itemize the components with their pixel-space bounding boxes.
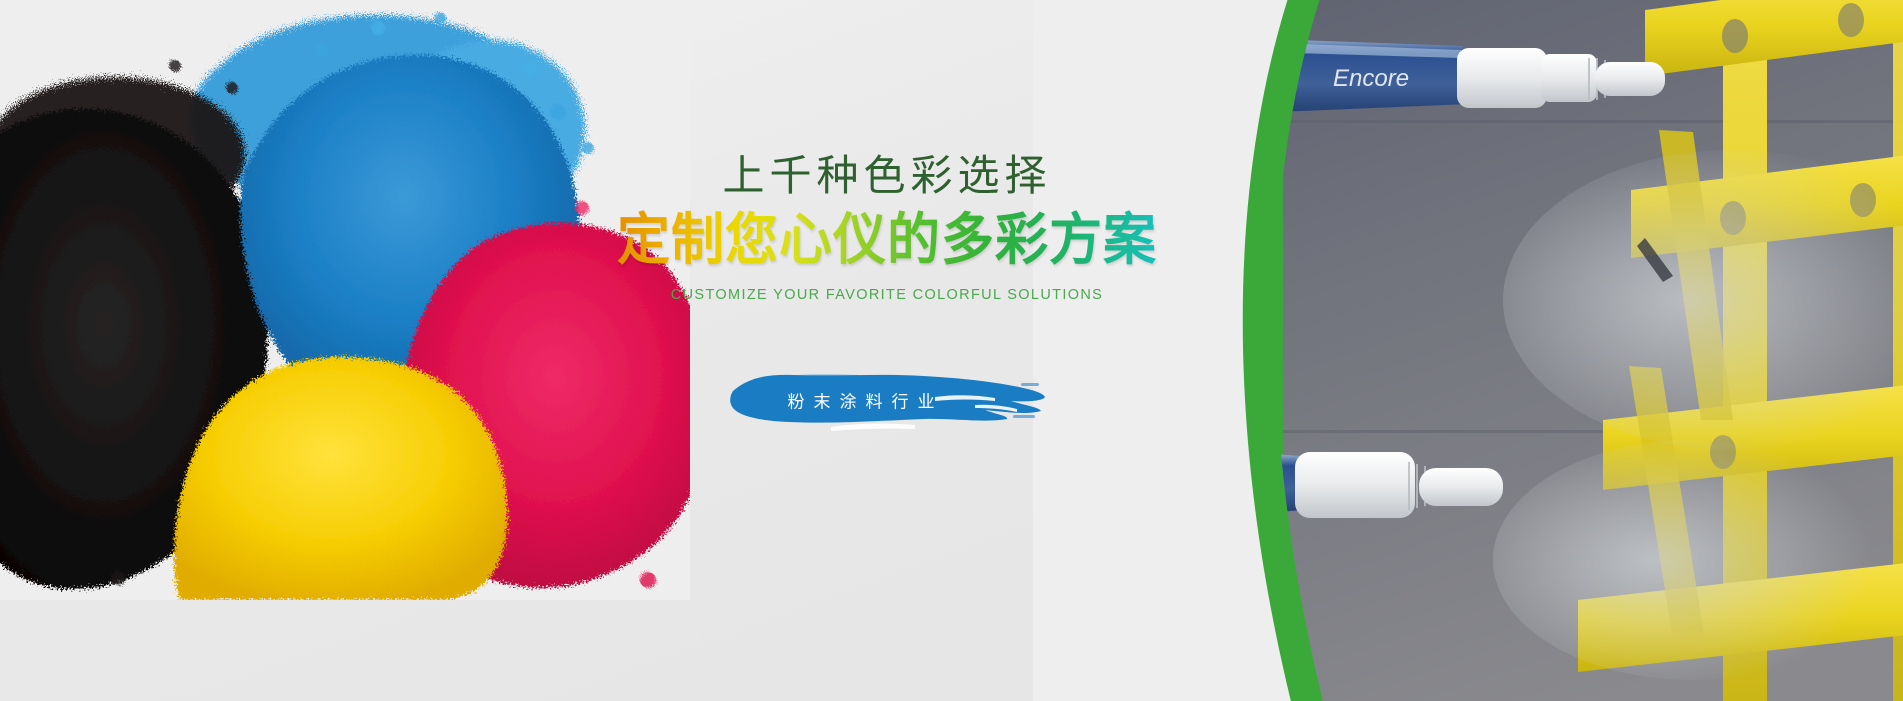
headline-primary: 上千种色彩选择 — [722, 152, 1051, 200]
banner-copy: 上千种色彩选择 定制您心仪的多彩方案 CUSTOMIZE YOUR FAVORI… — [652, 0, 1122, 701]
headline-gradient: 定制您心仪的多彩方案 — [617, 211, 1157, 273]
cmyk-powder-image — [0, 0, 690, 600]
spray-booth-image: Encore — [1033, 0, 1903, 701]
encore-brand-text: Encore — [1333, 65, 1409, 92]
promotional-banner: Encore 上千种色彩选择 定制您 — [0, 0, 1903, 701]
industry-tag-label: 粉末涂料行业 — [727, 387, 1047, 412]
subtitle-english: CUSTOMIZE YOUR FAVORITE COLORFUL SOLUTIO… — [671, 287, 1103, 303]
industry-tag: 粉末涂料行业 — [727, 361, 1047, 439]
